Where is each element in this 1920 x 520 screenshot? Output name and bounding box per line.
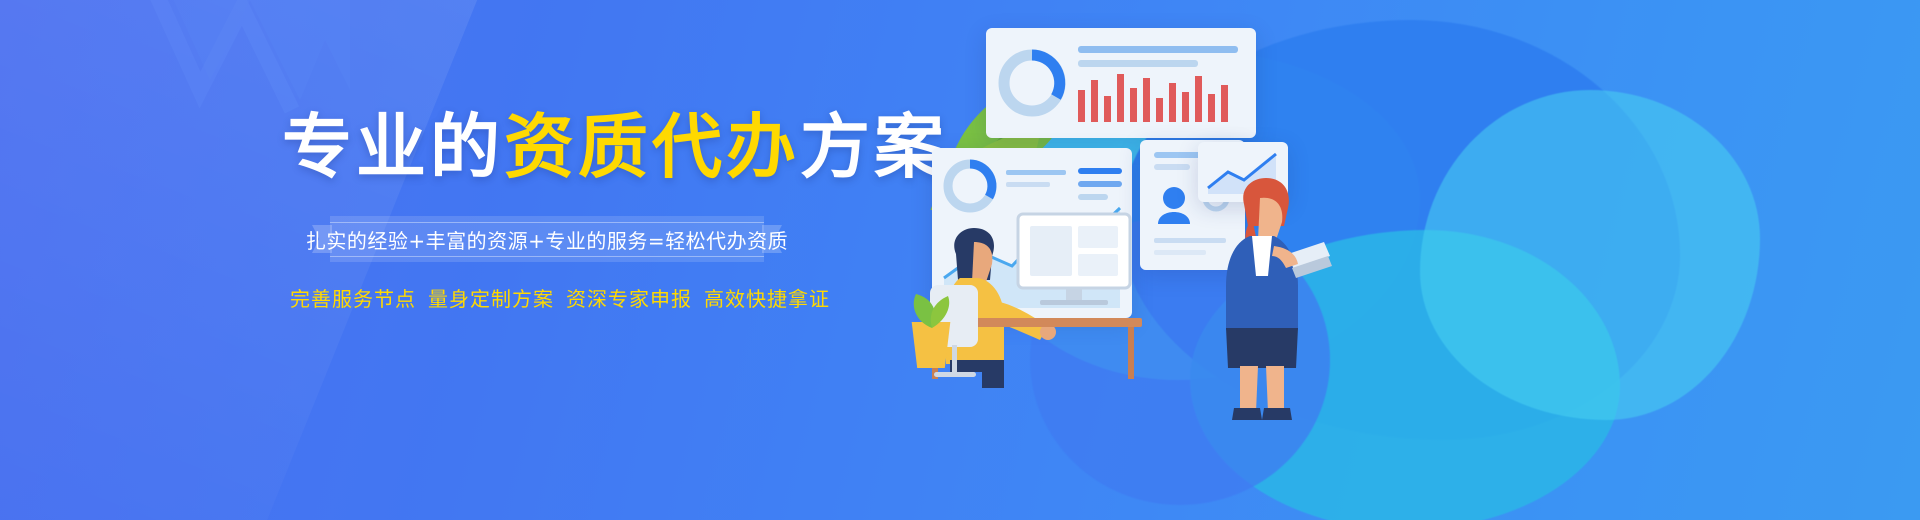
keyword-item-3: 资深专家申报 bbox=[566, 283, 692, 312]
headline-segment-highlight: 资质代办 bbox=[504, 105, 800, 188]
keyword-item-2: 量身定制方案 bbox=[428, 283, 554, 312]
bar-chart-card bbox=[986, 28, 1256, 138]
promo-banner: 专业的资质代办方案 扎实的经验+丰富的资源+专业的服务=轻松代办资质 完善服务节… bbox=[0, 0, 1920, 520]
business-dashboard-illustration bbox=[900, 0, 1460, 520]
copy-column: 专业的资质代办方案 扎实的经验+丰富的资源+专业的服务=轻松代办资质 完善服务节… bbox=[0, 0, 980, 520]
subtitle-ribbon: 扎实的经验+丰富的资源+专业的服务=轻松代办资质 bbox=[312, 216, 782, 266]
bar-chart-icon bbox=[986, 28, 1256, 138]
seated-analyst-figure bbox=[920, 150, 1180, 400]
potted-plant-leaves-icon bbox=[906, 292, 956, 332]
office-chair-stem bbox=[952, 345, 957, 375]
office-chair-base bbox=[934, 372, 976, 377]
ribbon-body: 扎实的经验+丰富的资源+专业的服务=轻松代办资质 bbox=[330, 216, 764, 262]
keyword-item-1: 完善服务节点 bbox=[290, 283, 416, 312]
desk-leg-right bbox=[1128, 327, 1134, 379]
subtitle-text: 扎实的经验+丰富的资源+专业的服务=轻松代办资质 bbox=[306, 225, 788, 254]
headline-segment-1: 专业的 bbox=[282, 105, 504, 188]
page-title: 专业的资质代办方案 bbox=[282, 112, 948, 182]
keyword-item-4: 高效快捷拿证 bbox=[704, 283, 830, 312]
standing-consultant-figure bbox=[1200, 170, 1340, 430]
keyword-list: 完善服务节点 量身定制方案 资深专家申报 高效快捷拿证 bbox=[290, 283, 830, 312]
